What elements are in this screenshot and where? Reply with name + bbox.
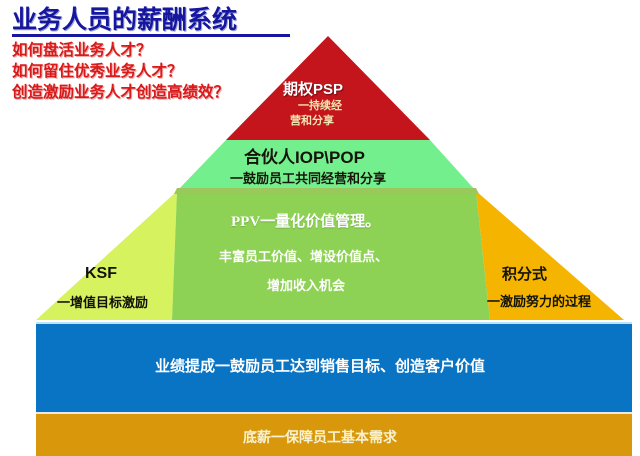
base-salary-bar-label: 底薪一保障员工基本需求 <box>0 427 640 447</box>
commission-bar-label: 业绩提成一鼓励员工达到销售目标、创造客户价值 <box>0 355 640 376</box>
ksf-title-label: KSF <box>85 265 117 283</box>
partner-band-title-label: 合伙人IOP\POP <box>244 143 365 168</box>
points-subtitle-label: 一激励努力的过程 <box>487 291 591 310</box>
apex-subtitle-line-2: 营和分享 <box>290 114 342 129</box>
question-line-2: 如何留住优秀业务人才？ <box>12 61 312 82</box>
question-line-3: 创造激励业务人才创造高绩效？ <box>12 82 312 103</box>
salary-system-pyramid-diagram: 业务人员的薪酬系统 如何盘活业务人才？ 如何留住优秀业务人才？ 创造激励业务人才… <box>0 0 640 456</box>
apex-subtitle-label: 一持续经 营和分享 <box>298 99 342 129</box>
partner-band-subtitle-label: 一鼓励员工共同经营和分享 <box>230 168 386 187</box>
ppv-detail-line-3: 增加收入机会 <box>267 275 345 294</box>
ksf-subtitle-label: 一增值目标激励 <box>57 292 148 311</box>
ppv-detail-line-2: 丰富员工价值、增设价值点、 <box>219 246 388 265</box>
ppv-title-label: PPV一量化价值管理。 <box>231 210 380 231</box>
page-title: 业务人员的薪酬系统 <box>12 4 312 36</box>
points-title-label: 积分式 <box>502 263 547 284</box>
question-line-1: 如何盘活业务人才？ <box>12 40 312 61</box>
header-block: 业务人员的薪酬系统 如何盘活业务人才？ 如何留住优秀业务人才？ 创造激励业务人才… <box>12 4 312 103</box>
